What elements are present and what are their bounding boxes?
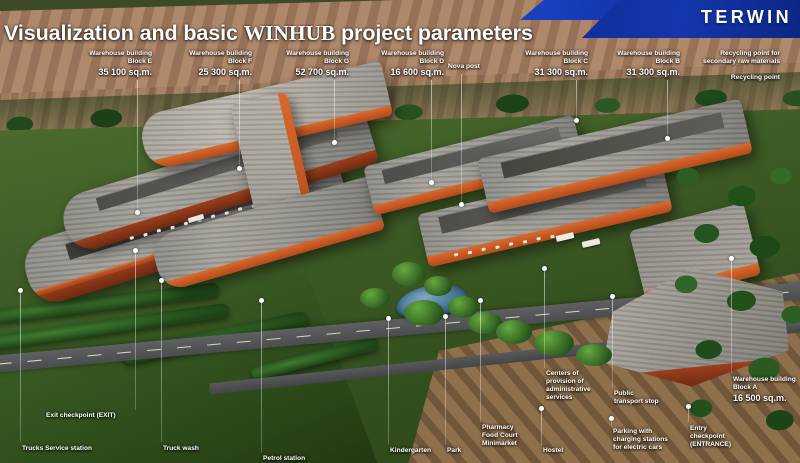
callout-public-transport-stop[interactable]: Public transport stop xyxy=(614,390,680,406)
callout-entry-checkpoint[interactable]: Entry checkpoint (ENTRANCE) xyxy=(690,425,746,449)
callout-label-admin-services: Centers of provision of administrative s… xyxy=(546,370,591,401)
callout-hostel[interactable]: Hostel xyxy=(543,447,583,455)
callout-block-e[interactable]: Warehouse building Block E35 100 sq.m. xyxy=(60,50,152,78)
callout-kindergarten[interactable]: Kindergarten xyxy=(390,447,446,455)
leader-line-trucks-service-station xyxy=(20,290,21,442)
leader-dot-block-d xyxy=(429,180,434,185)
leader-line-public-transport-stop xyxy=(612,296,613,388)
callout-recycling-point[interactable]: Recycling point xyxy=(672,74,780,82)
callout-label-block-f: Warehouse building Block F xyxy=(189,50,252,65)
callout-admin-services[interactable]: Centers of provision of administrative s… xyxy=(546,370,608,402)
park-greenery xyxy=(404,300,444,326)
callout-label-pharmacy-food-minimarket: Pharmacy Food Court Minimarket xyxy=(482,424,518,447)
leader-dot-parking-ev xyxy=(609,416,614,421)
leader-line-hostel xyxy=(541,408,542,446)
leader-line-block-b xyxy=(667,80,668,138)
callout-recycling[interactable]: Recycling point for secondary raw materi… xyxy=(670,50,780,66)
page-title: Visualization and basic WINHUB project p… xyxy=(4,21,533,46)
callout-label-entry-checkpoint: Entry checkpoint (ENTRANCE) xyxy=(690,425,731,448)
callout-exit-checkpoint[interactable]: Exit checkpoint (EXIT) xyxy=(46,412,136,420)
leader-line-block-c xyxy=(576,80,577,120)
callout-label-block-a: Warehouse building Block A xyxy=(733,376,796,391)
visualization-slide: Visualization and basic WINHUB project p… xyxy=(0,0,800,463)
callout-block-g[interactable]: Warehouse building Block G52 700 sq.m. xyxy=(257,50,349,78)
callout-label-parking-ev: Parking with charging stations for elect… xyxy=(613,428,668,451)
callout-parking-ev[interactable]: Parking with charging stations for elect… xyxy=(613,428,685,452)
leader-dot-block-f xyxy=(237,166,242,171)
leader-line-admin-services xyxy=(544,268,545,368)
leader-line-block-g xyxy=(334,80,335,142)
callout-petrol-station[interactable]: Petrol station xyxy=(263,455,325,463)
leader-line-kindergarten xyxy=(388,318,389,444)
callout-label-kindergarten: Kindergarten xyxy=(390,447,431,454)
leader-dot-trucks-service-station xyxy=(18,288,23,293)
leader-line-block-d xyxy=(431,80,432,182)
callout-trucks-service-station[interactable]: Trucks Service station xyxy=(22,445,117,453)
title-lead: Visualization and basic xyxy=(4,21,244,45)
callout-label-block-d: Warehouse building Block D xyxy=(381,50,444,65)
leader-line-nova-post xyxy=(461,74,462,204)
callout-area-block-f: 25 300 sq.m. xyxy=(160,67,252,78)
callout-area-block-e: 35 100 sq.m. xyxy=(60,67,152,78)
callout-block-c[interactable]: Warehouse building Block C31 300 sq.m. xyxy=(496,50,588,78)
callout-pharmacy-food-minimarket[interactable]: Pharmacy Food Court Minimarket xyxy=(482,424,538,448)
leader-dot-kindergarten xyxy=(386,316,391,321)
callout-park[interactable]: Park xyxy=(447,447,481,455)
callout-label-nova-post: Nova post xyxy=(448,63,480,70)
callout-label-exit-checkpoint: Exit checkpoint (EXIT) xyxy=(46,412,116,419)
park-greenery xyxy=(360,288,390,308)
leader-dot-block-c xyxy=(574,118,579,123)
leader-dot-park xyxy=(443,314,448,319)
leader-line-block-e xyxy=(137,80,138,212)
callout-label-public-transport-stop: Public transport stop xyxy=(614,390,659,405)
callout-label-park: Park xyxy=(447,447,461,454)
leader-line-petrol-station xyxy=(261,300,262,452)
park-greenery xyxy=(424,276,452,296)
leader-dot-public-transport-stop xyxy=(610,294,615,299)
park-greenery xyxy=(576,344,612,366)
leader-dot-entry-checkpoint xyxy=(686,404,691,409)
callout-label-petrol-station: Petrol station xyxy=(263,455,305,462)
leader-line-truck-wash xyxy=(161,280,162,442)
terwin-logo: TERWIN xyxy=(701,7,792,28)
leader-line-park xyxy=(445,316,446,444)
park-greenery xyxy=(534,330,574,356)
callout-block-f[interactable]: Warehouse building Block F25 300 sq.m. xyxy=(160,50,252,78)
callout-area-block-g: 52 700 sq.m. xyxy=(257,67,349,78)
leader-dot-truck-wash xyxy=(159,278,164,283)
leader-dot-block-b xyxy=(665,136,670,141)
callout-label-block-g: Warehouse building Block G xyxy=(286,50,349,65)
callout-label-recycling: Recycling point for secondary raw materi… xyxy=(703,50,780,65)
callout-label-block-c: Warehouse building Block C xyxy=(525,50,588,65)
leader-dot-block-a xyxy=(729,256,734,261)
leader-dot-block-g xyxy=(332,140,337,145)
leader-dot-pharmacy-food-minimarket xyxy=(478,298,483,303)
park-greenery xyxy=(392,262,426,286)
callout-block-b[interactable]: Warehouse building Block B31 300 sq.m. xyxy=(588,50,680,78)
title-tail: project parameters xyxy=(335,21,533,45)
callout-truck-wash[interactable]: Truck wash xyxy=(163,445,223,453)
leader-line-block-f xyxy=(239,80,240,168)
leader-line-pharmacy-food-minimarket xyxy=(480,300,481,422)
callout-area-block-a: 16 500 sq.m. xyxy=(733,393,799,404)
leader-dot-petrol-station xyxy=(259,298,264,303)
callout-label-block-e: Warehouse building Block E xyxy=(89,50,152,65)
title-brand-win: WIN xyxy=(244,21,289,45)
title-brand-hub: HUB xyxy=(289,21,335,45)
callout-area-block-b: 31 300 sq.m. xyxy=(588,67,680,78)
callout-label-hostel: Hostel xyxy=(543,447,563,454)
callout-block-d[interactable]: Warehouse building Block D16 600 sq.m. xyxy=(352,50,444,78)
leader-dot-nova-post xyxy=(459,202,464,207)
callout-label-truck-wash: Truck wash xyxy=(163,445,199,452)
leader-line-exit-checkpoint xyxy=(135,250,136,410)
park-greenery xyxy=(496,320,532,344)
callout-block-a[interactable]: Warehouse building Block A16 500 sq.m. xyxy=(733,376,799,404)
leader-dot-admin-services xyxy=(542,266,547,271)
callout-label-trucks-service-station: Trucks Service station xyxy=(22,445,92,452)
leader-dot-block-e xyxy=(135,210,140,215)
callout-area-block-c: 31 300 sq.m. xyxy=(496,67,588,78)
callout-label-recycling-point: Recycling point xyxy=(731,74,780,81)
leader-line-block-a xyxy=(731,258,732,374)
leader-dot-exit-checkpoint xyxy=(133,248,138,253)
callout-area-block-d: 16 600 sq.m. xyxy=(352,67,444,78)
logo-banner: TERWIN xyxy=(582,0,800,38)
leader-dot-hostel xyxy=(539,406,544,411)
